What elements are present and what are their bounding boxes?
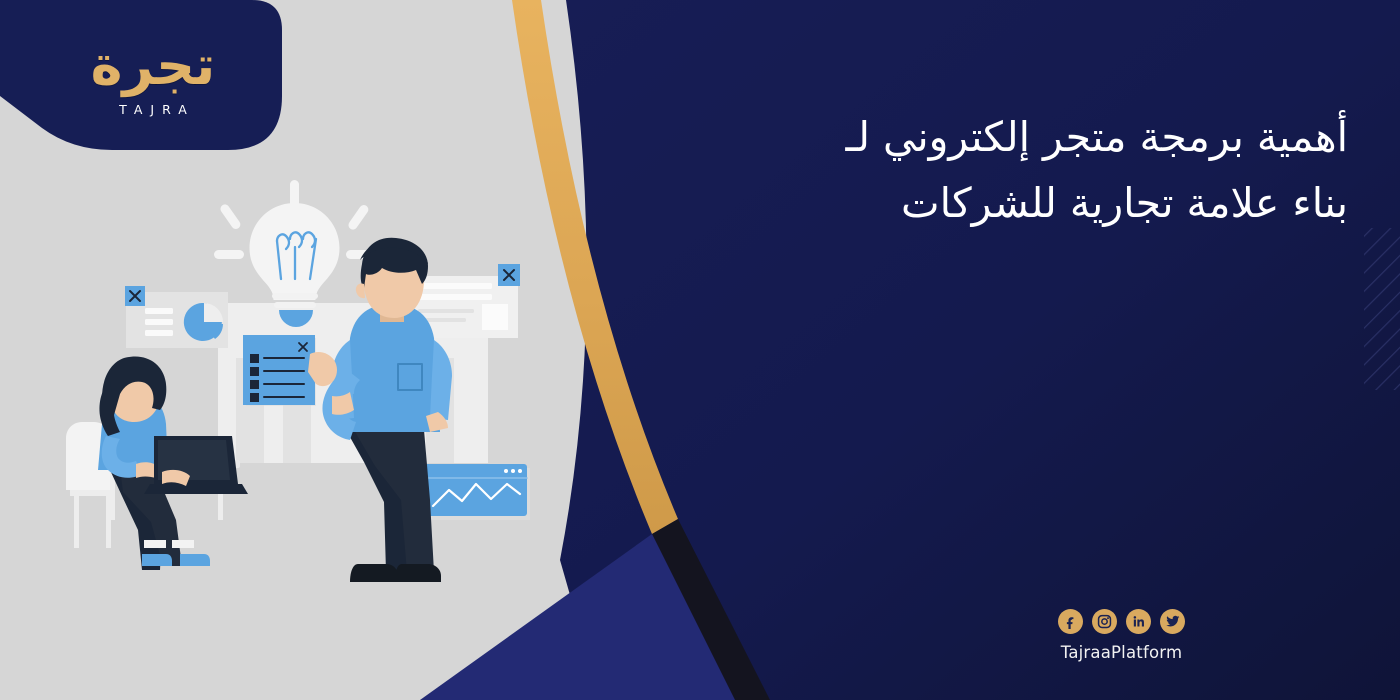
- team-ideation-illustration: [58, 168, 548, 603]
- line-chart-browser-card: [423, 464, 530, 520]
- logo-badge-shape: [0, 0, 282, 150]
- twitter-icon[interactable]: [1160, 609, 1185, 634]
- hatch-decoration: [1364, 228, 1400, 390]
- pie-chart-card: [125, 286, 228, 348]
- social-handle: TajraaPlatform: [1061, 643, 1182, 662]
- linkedin-icon[interactable]: [1126, 609, 1151, 634]
- instagram-icon[interactable]: [1092, 609, 1117, 634]
- facebook-icon[interactable]: [1058, 609, 1083, 634]
- headline-line-1: أهمية برمجة متجر إلكتروني لـ: [628, 104, 1348, 170]
- headline: أهمية برمجة متجر إلكتروني لـ بناء علامة …: [628, 104, 1348, 237]
- headline-line-2: بناء علامة تجارية للشركات: [628, 170, 1348, 236]
- social-block: TajraaPlatform: [1058, 609, 1185, 662]
- poster-canvas: تجرة TAJRA أهمية برمجة متجر إلكتروني لـ …: [0, 0, 1400, 700]
- checklist-card: [243, 335, 316, 406]
- social-icon-row: [1058, 609, 1185, 634]
